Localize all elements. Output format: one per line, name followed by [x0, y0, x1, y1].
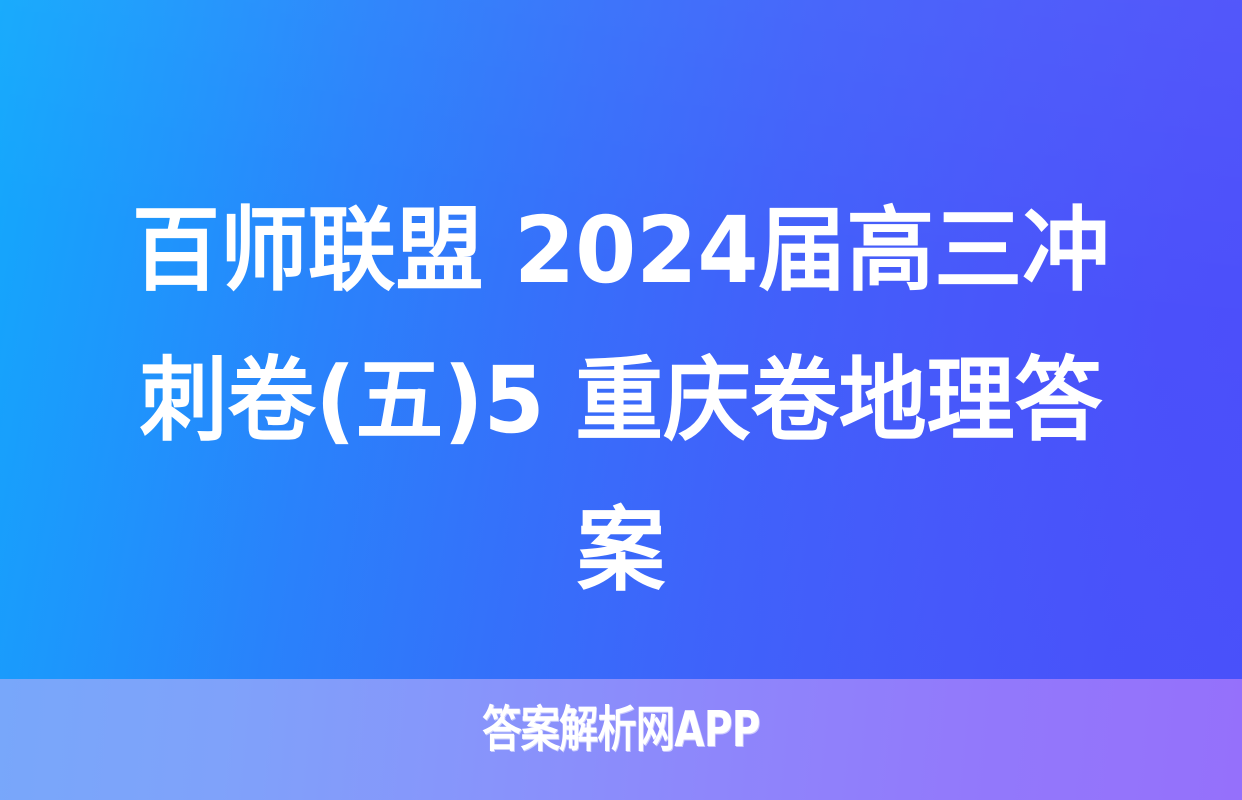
hero-gradient-panel: 百师联盟 2024届高三冲 刺卷(五)5 重庆卷地理答 案 — [0, 0, 1242, 679]
page-title: 百师联盟 2024届高三冲 刺卷(五)5 重庆卷地理答 案 — [70, 176, 1172, 626]
title-line-3: 案 — [95, 476, 1147, 626]
poster-root: 百师联盟 2024届高三冲 刺卷(五)5 重庆卷地理答 案 答案解析网APP — [0, 0, 1242, 800]
watermark-label: 答案解析网APP — [124, 702, 1118, 758]
title-line-1: 百师联盟 2024届高三冲 — [95, 176, 1147, 326]
title-line-2: 刺卷(五)5 重庆卷地理答 — [95, 326, 1147, 476]
